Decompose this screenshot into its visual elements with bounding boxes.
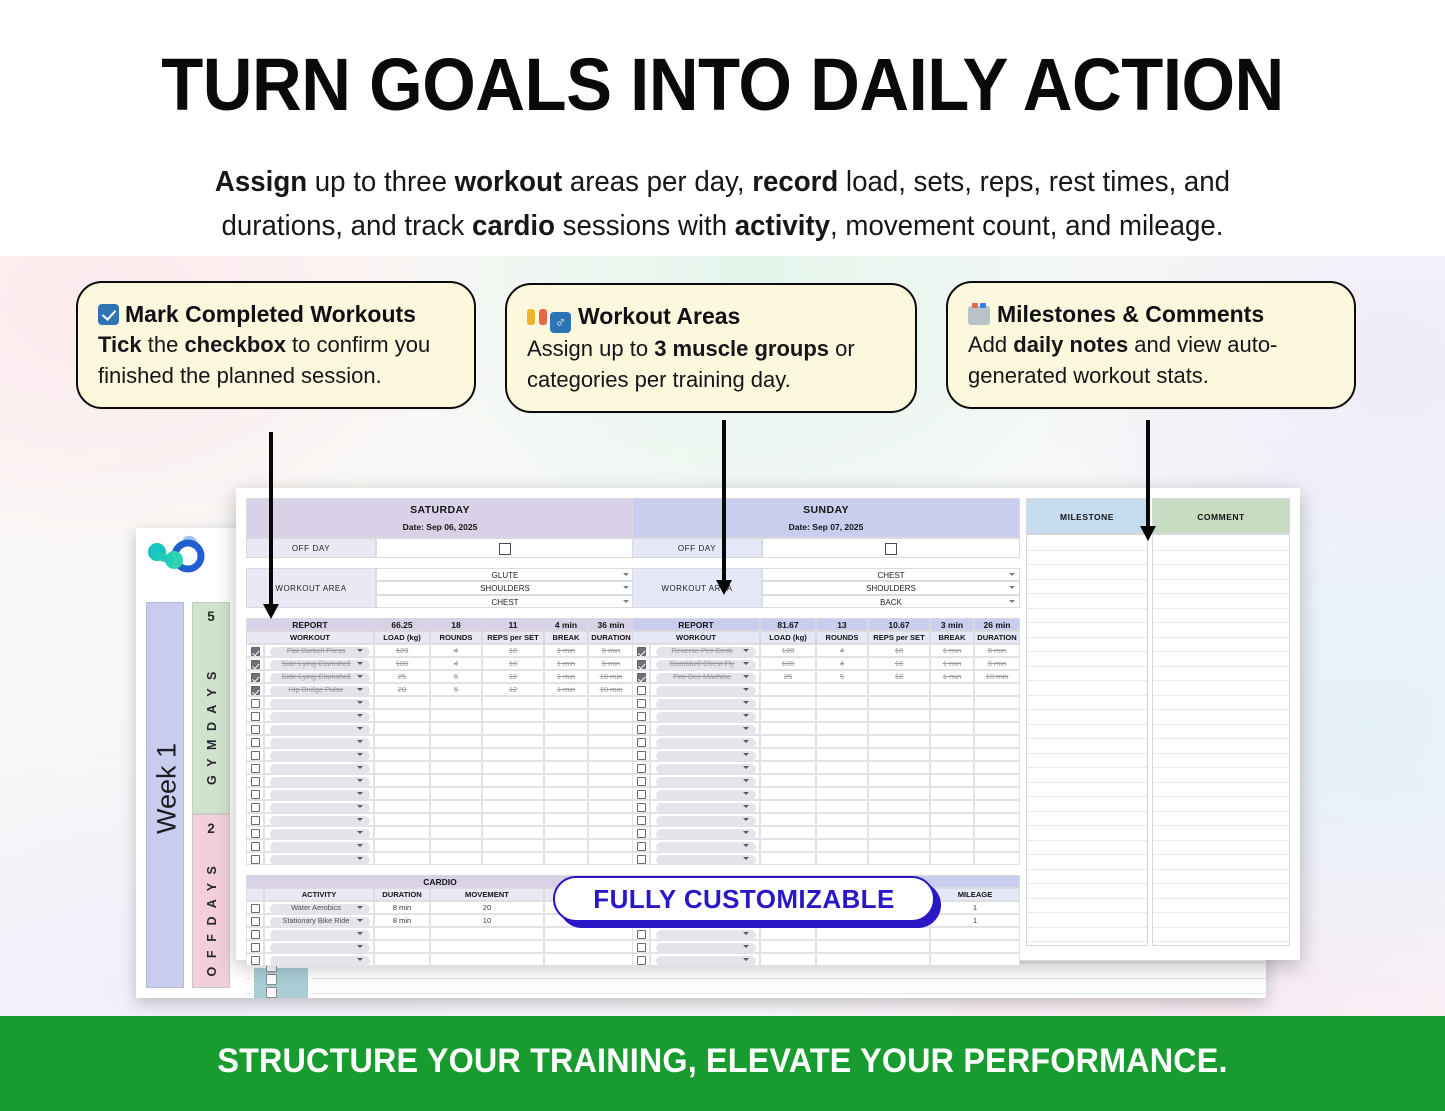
workout-checkbox[interactable] [637,777,646,786]
chevron-down-icon[interactable] [357,844,363,847]
workout-cell[interactable]: 1 min [930,644,974,657]
dropdown-pill[interactable] [656,816,756,826]
workout-cell[interactable] [760,839,816,852]
cardio-row[interactable] [632,940,1020,953]
off-day-checkbox[interactable] [499,543,511,555]
row-checkbox-cell[interactable] [246,800,264,813]
cardio-checkbox-cell[interactable] [632,940,650,953]
cardio-duration-cell[interactable] [374,953,430,966]
chevron-down-icon[interactable] [357,805,363,808]
workout-cell[interactable] [760,735,816,748]
workout-cell[interactable] [588,735,634,748]
workout-cell[interactable] [588,722,634,735]
row-checkbox-cell[interactable] [632,813,650,826]
cardio-checkbox-cell[interactable] [246,914,264,927]
workout-cell[interactable] [374,735,430,748]
workout-name-cell[interactable] [650,735,760,748]
dropdown-pill[interactable] [270,816,370,826]
dropdown-pill[interactable] [270,829,370,839]
cardio-row[interactable] [632,953,1020,966]
chevron-down-icon[interactable] [623,600,629,603]
chevron-down-icon[interactable] [357,958,363,961]
chevron-down-icon[interactable] [357,857,363,860]
workout-cell[interactable]: 25 [760,670,816,683]
chevron-down-icon[interactable] [1009,586,1015,589]
workout-name-cell[interactable] [264,722,374,735]
workout-cell[interactable]: 100 [760,657,816,670]
workout-cell[interactable] [816,826,868,839]
workout-checkbox[interactable] [251,660,260,669]
chevron-down-icon[interactable] [357,818,363,821]
workout-cell[interactable] [760,826,816,839]
workout-checkbox[interactable] [637,673,646,682]
dropdown-pill[interactable] [656,790,756,800]
chevron-down-icon[interactable] [743,805,749,808]
off-day-value[interactable] [762,538,1020,558]
cardio-activity-cell[interactable] [650,953,760,966]
cardio-duration-cell[interactable] [760,940,816,953]
workout-cell[interactable] [588,826,634,839]
workout-name-cell[interactable] [650,813,760,826]
dropdown-pill[interactable] [656,738,756,748]
dropdown-pill[interactable] [270,725,370,735]
workout-cell[interactable]: 4 [816,644,868,657]
workout-cell[interactable] [374,787,430,800]
workout-cell[interactable] [760,709,816,722]
workout-cell[interactable] [816,761,868,774]
chevron-down-icon[interactable] [743,740,749,743]
workout-cell[interactable] [760,800,816,813]
cardio-duration-cell[interactable]: 8 min [374,914,430,927]
workout-name-cell[interactable] [650,839,760,852]
workout-cell[interactable] [816,683,868,696]
cardio-checkbox-cell[interactable] [246,940,264,953]
workout-cell[interactable] [588,748,634,761]
workout-cell[interactable] [760,774,816,787]
row-checkbox-cell[interactable] [632,761,650,774]
workout-name-cell[interactable]: Pec Dec Machine [650,670,760,683]
chevron-down-icon[interactable] [357,766,363,769]
row-checkbox-cell[interactable] [246,722,264,735]
cardio-row[interactable] [246,940,634,953]
cardio-checkbox[interactable] [251,930,260,939]
dropdown-pill[interactable] [270,751,370,761]
workout-cell[interactable] [868,709,930,722]
workout-checkbox[interactable] [637,751,646,760]
workout-row[interactable] [632,722,1020,735]
workout-cell[interactable]: 120 [374,644,430,657]
workout-cell[interactable] [868,839,930,852]
cardio-mileage-cell[interactable] [930,927,1020,940]
workout-cell[interactable] [974,696,1020,709]
row-checkbox-cell[interactable] [632,839,650,852]
workout-name-cell[interactable] [264,800,374,813]
workout-cell[interactable] [930,852,974,865]
workout-name-cell[interactable] [264,787,374,800]
cardio-duration-cell[interactable] [760,953,816,966]
chevron-down-icon[interactable] [743,662,749,665]
workout-checkbox[interactable] [251,842,260,851]
workout-row[interactable] [632,774,1020,787]
workout-row[interactable] [246,722,634,735]
workout-checkbox[interactable] [251,725,260,734]
workout-row[interactable] [632,696,1020,709]
workout-cell[interactable] [482,839,544,852]
workout-cell[interactable] [930,787,974,800]
chevron-down-icon[interactable] [357,779,363,782]
workout-name-cell[interactable] [264,826,374,839]
chevron-down-icon[interactable] [357,831,363,834]
workout-cell[interactable] [544,748,588,761]
row-checkbox-cell[interactable] [632,735,650,748]
workout-cell[interactable] [588,696,634,709]
cardio-mileage-cell[interactable] [930,940,1020,953]
workout-row[interactable] [632,709,1020,722]
cardio-checkbox-cell[interactable] [246,927,264,940]
workout-cell[interactable] [588,813,634,826]
workout-cell[interactable] [482,748,544,761]
workout-name-cell[interactable] [650,683,760,696]
workout-cell[interactable] [482,774,544,787]
cardio-mileage-cell[interactable]: 1 [930,901,1020,914]
dropdown-pill[interactable] [656,686,756,696]
workout-cell[interactable] [868,787,930,800]
workout-cell[interactable] [544,761,588,774]
row-checkbox-cell[interactable] [246,735,264,748]
chevron-down-icon[interactable] [743,945,749,948]
dropdown-pill[interactable] [270,790,370,800]
dropdown-pill[interactable] [270,956,370,966]
workout-cell[interactable] [482,813,544,826]
chevron-down-icon[interactable] [743,792,749,795]
workout-cell[interactable] [974,787,1020,800]
workout-cell[interactable]: 12 [482,683,544,696]
workout-cell[interactable]: 1 min [544,644,588,657]
cardio-activity-cell[interactable]: Stationary Bike Ride [264,914,374,927]
chevron-down-icon[interactable] [743,688,749,691]
workout-name-cell[interactable]: Hip Bridge Pulse [264,683,374,696]
row-checkbox-cell[interactable] [632,657,650,670]
cardio-movement-cell[interactable] [430,940,544,953]
row-checkbox-cell[interactable] [246,748,264,761]
row-checkbox-cell[interactable] [246,813,264,826]
chevron-down-icon[interactable] [743,831,749,834]
workout-area-option[interactable]: BACK [762,595,1020,608]
workout-cell[interactable] [588,800,634,813]
workout-cell[interactable] [482,709,544,722]
row-checkbox-cell[interactable] [246,761,264,774]
workout-cell[interactable]: 10 [868,657,930,670]
workout-checkbox[interactable] [251,816,260,825]
dropdown-pill[interactable] [270,699,370,709]
workout-name-cell[interactable]: Reverse Pec Deck [650,644,760,657]
workout-row[interactable] [246,787,634,800]
row-checkbox-cell[interactable] [246,787,264,800]
workout-checkbox[interactable] [251,790,260,799]
workout-checkbox[interactable] [637,764,646,773]
cardio-checkbox[interactable] [251,943,260,952]
chevron-down-icon[interactable] [1009,573,1015,576]
workout-name-cell[interactable]: Side-Lying Clamshell [264,657,374,670]
chevron-down-icon[interactable] [357,701,363,704]
dropdown-pill[interactable] [270,943,370,953]
workout-checkbox[interactable] [637,699,646,708]
cardio-mileage-cell[interactable] [544,953,634,966]
row-checkbox-cell[interactable] [632,826,650,839]
cardio-mileage-cell[interactable] [930,953,1020,966]
workout-cell[interactable] [544,696,588,709]
workout-cell[interactable] [374,748,430,761]
workout-area-options[interactable]: GLUTESHOULDERSCHEST [376,568,634,608]
chevron-down-icon[interactable] [743,857,749,860]
workout-cell[interactable] [374,826,430,839]
workout-row[interactable] [246,774,634,787]
workout-cell[interactable] [816,709,868,722]
chevron-down-icon[interactable] [743,649,749,652]
dropdown-pill[interactable] [270,803,370,813]
workout-cell[interactable] [374,774,430,787]
workout-cell[interactable]: 10 min [588,683,634,696]
workout-checkbox[interactable] [251,673,260,682]
workout-row[interactable]: Dumbbell Chest Fly1004101 min8 min [632,657,1020,670]
workout-cell[interactable] [974,722,1020,735]
workout-checkbox[interactable] [637,647,646,656]
workout-name-cell[interactable] [264,748,374,761]
workout-cell[interactable] [430,852,482,865]
cardio-activity-cell[interactable] [650,940,760,953]
workout-cell[interactable]: 100 [374,657,430,670]
dropdown-pill[interactable] [656,956,756,966]
workout-cell[interactable] [374,696,430,709]
cardio-mileage-cell[interactable]: 1 [930,914,1020,927]
workout-cell[interactable]: 10 [482,644,544,657]
workout-cell[interactable] [868,813,930,826]
workout-cell[interactable]: 20 [374,683,430,696]
workout-cell[interactable] [482,761,544,774]
chevron-down-icon[interactable] [357,662,363,665]
workout-row[interactable] [632,800,1020,813]
workout-name-cell[interactable] [264,709,374,722]
workout-cell[interactable] [760,852,816,865]
workout-row[interactable]: Hip Bridge Pulse205121 min10 min [246,683,634,696]
workout-cell[interactable] [544,813,588,826]
workout-checkbox[interactable] [637,686,646,695]
workout-cell[interactable] [930,748,974,761]
workout-cell[interactable]: 25 [374,670,430,683]
workout-cell[interactable] [374,709,430,722]
workout-cell[interactable] [760,683,816,696]
workout-row[interactable] [632,735,1020,748]
workout-checkbox[interactable] [251,738,260,747]
workout-cell[interactable] [482,826,544,839]
workout-cell[interactable] [930,774,974,787]
workout-cell[interactable] [760,722,816,735]
workout-row[interactable]: Side-Lying Clamshell1004101 min8 min [246,657,634,670]
workout-checkbox[interactable] [251,803,260,812]
workout-cell[interactable] [930,839,974,852]
workout-cell[interactable] [482,722,544,735]
cardio-row[interactable] [246,927,634,940]
chevron-down-icon[interactable] [623,573,629,576]
row-checkbox-cell[interactable] [632,670,650,683]
workout-cell[interactable] [430,800,482,813]
row-checkbox-cell[interactable] [632,722,650,735]
chevron-down-icon[interactable] [357,675,363,678]
workout-cell[interactable]: 10 min [588,670,634,683]
workout-cell[interactable] [430,748,482,761]
workout-cell[interactable] [544,709,588,722]
cardio-duration-cell[interactable] [374,940,430,953]
workout-name-cell[interactable]: Flat Barbell Press [264,644,374,657]
workout-name-cell[interactable] [650,748,760,761]
row-checkbox-cell[interactable] [632,696,650,709]
workout-cell[interactable]: 5 [430,683,482,696]
workout-cell[interactable] [760,813,816,826]
workout-cell[interactable] [868,852,930,865]
row-checkbox-cell[interactable] [246,696,264,709]
workout-row[interactable]: Reverse Pec Deck1204101 min8 min [632,644,1020,657]
dropdown-pill[interactable] [270,712,370,722]
chevron-down-icon[interactable] [743,727,749,730]
chevron-down-icon[interactable] [357,945,363,948]
cardio-checkbox[interactable] [637,943,646,952]
workout-cell[interactable] [974,761,1020,774]
cardio-checkbox-cell[interactable] [632,953,650,966]
workout-cell[interactable] [974,839,1020,852]
workout-cell[interactable] [544,735,588,748]
workout-checkbox[interactable] [637,712,646,721]
dropdown-pill[interactable] [656,829,756,839]
cardio-mileage-cell[interactable] [544,940,634,953]
dropdown-pill[interactable] [656,725,756,735]
workout-cell[interactable] [430,787,482,800]
workout-name-cell[interactable] [264,696,374,709]
workout-cell[interactable] [430,761,482,774]
workout-checkbox[interactable] [637,829,646,838]
row-checkbox-cell[interactable] [246,644,264,657]
workout-cell[interactable] [430,774,482,787]
cardio-movement-cell[interactable] [430,927,544,940]
cardio-movement-cell[interactable] [816,953,930,966]
cardio-movement-cell[interactable]: 10 [430,914,544,927]
workout-row[interactable] [632,761,1020,774]
workout-cell[interactable] [816,748,868,761]
dropdown-pill[interactable] [270,764,370,774]
workout-cell[interactable] [930,826,974,839]
workout-cell[interactable] [760,787,816,800]
workout-cell[interactable]: 1 min [544,683,588,696]
workout-cell[interactable] [816,735,868,748]
workout-cell[interactable] [430,735,482,748]
row-checkbox-cell[interactable] [632,852,650,865]
workout-cell[interactable] [930,735,974,748]
workout-cell[interactable] [930,813,974,826]
cardio-row[interactable] [632,927,1020,940]
workout-cell[interactable] [868,735,930,748]
workout-cell[interactable] [868,696,930,709]
chevron-down-icon[interactable] [1009,600,1015,603]
workout-area-option[interactable]: SHOULDERS [762,581,1020,594]
chevron-down-icon[interactable] [743,844,749,847]
workout-row[interactable] [632,852,1020,865]
cardio-movement-cell[interactable] [816,927,930,940]
workout-cell[interactable] [544,852,588,865]
off-day-checkbox[interactable] [885,543,897,555]
cardio-activity-cell[interactable] [264,953,374,966]
workout-name-cell[interactable] [650,826,760,839]
cardio-checkbox[interactable] [251,956,260,965]
row-checkbox-cell[interactable] [632,644,650,657]
off-day-value[interactable] [376,538,634,558]
workout-checkbox[interactable] [251,647,260,656]
chevron-down-icon[interactable] [357,932,363,935]
row-checkbox-cell[interactable] [246,709,264,722]
workout-cell[interactable]: 8 min [588,657,634,670]
workout-checkbox[interactable] [637,842,646,851]
workout-cell[interactable] [430,826,482,839]
workout-row[interactable] [246,826,634,839]
workout-row[interactable] [246,696,634,709]
workout-name-cell[interactable] [650,722,760,735]
row-checkbox-cell[interactable] [632,709,650,722]
workout-name-cell[interactable] [650,852,760,865]
workout-cell[interactable] [974,852,1020,865]
workout-cell[interactable] [868,683,930,696]
workout-cell[interactable]: 5 [430,670,482,683]
dropdown-pill[interactable] [656,943,756,953]
workout-cell[interactable] [374,800,430,813]
workout-cell[interactable] [430,839,482,852]
workout-cell[interactable] [544,722,588,735]
milestone-body[interactable] [1026,534,1148,946]
workout-checkbox[interactable] [637,816,646,825]
row-checkbox-cell[interactable] [246,839,264,852]
workout-cell[interactable] [760,748,816,761]
workout-cell[interactable] [816,800,868,813]
workout-row[interactable] [246,813,634,826]
row-checkbox-cell[interactable] [246,683,264,696]
workout-name-cell[interactable] [650,696,760,709]
workout-row[interactable] [246,800,634,813]
cardio-activity-cell[interactable] [264,927,374,940]
cardio-checkbox[interactable] [637,956,646,965]
comment-column[interactable]: COMMENT [1152,498,1290,946]
cardio-activity-cell[interactable]: Water Aerobics [264,901,374,914]
workout-cell[interactable] [482,735,544,748]
workout-cell[interactable] [588,761,634,774]
workout-cell[interactable] [974,683,1020,696]
dropdown-pill[interactable] [656,777,756,787]
cardio-movement-cell[interactable]: 20 [430,901,544,914]
workout-name-cell[interactable]: Side-Lying Clamshell [264,670,374,683]
workout-cell[interactable] [588,852,634,865]
workout-name-cell[interactable]: Dumbbell Chest Fly [650,657,760,670]
dropdown-pill[interactable] [656,699,756,709]
workout-cell[interactable] [974,774,1020,787]
workout-name-cell[interactable] [264,813,374,826]
row-checkbox-cell[interactable] [632,683,650,696]
dropdown-pill[interactable] [656,712,756,722]
chevron-down-icon[interactable] [357,688,363,691]
workout-cell[interactable]: 4 [430,644,482,657]
workout-checkbox[interactable] [637,803,646,812]
workout-name-cell[interactable] [264,852,374,865]
workout-cell[interactable] [930,761,974,774]
workout-cell[interactable] [482,800,544,813]
workout-cell[interactable] [930,683,974,696]
workout-row[interactable] [632,748,1020,761]
workout-cell[interactable] [816,774,868,787]
